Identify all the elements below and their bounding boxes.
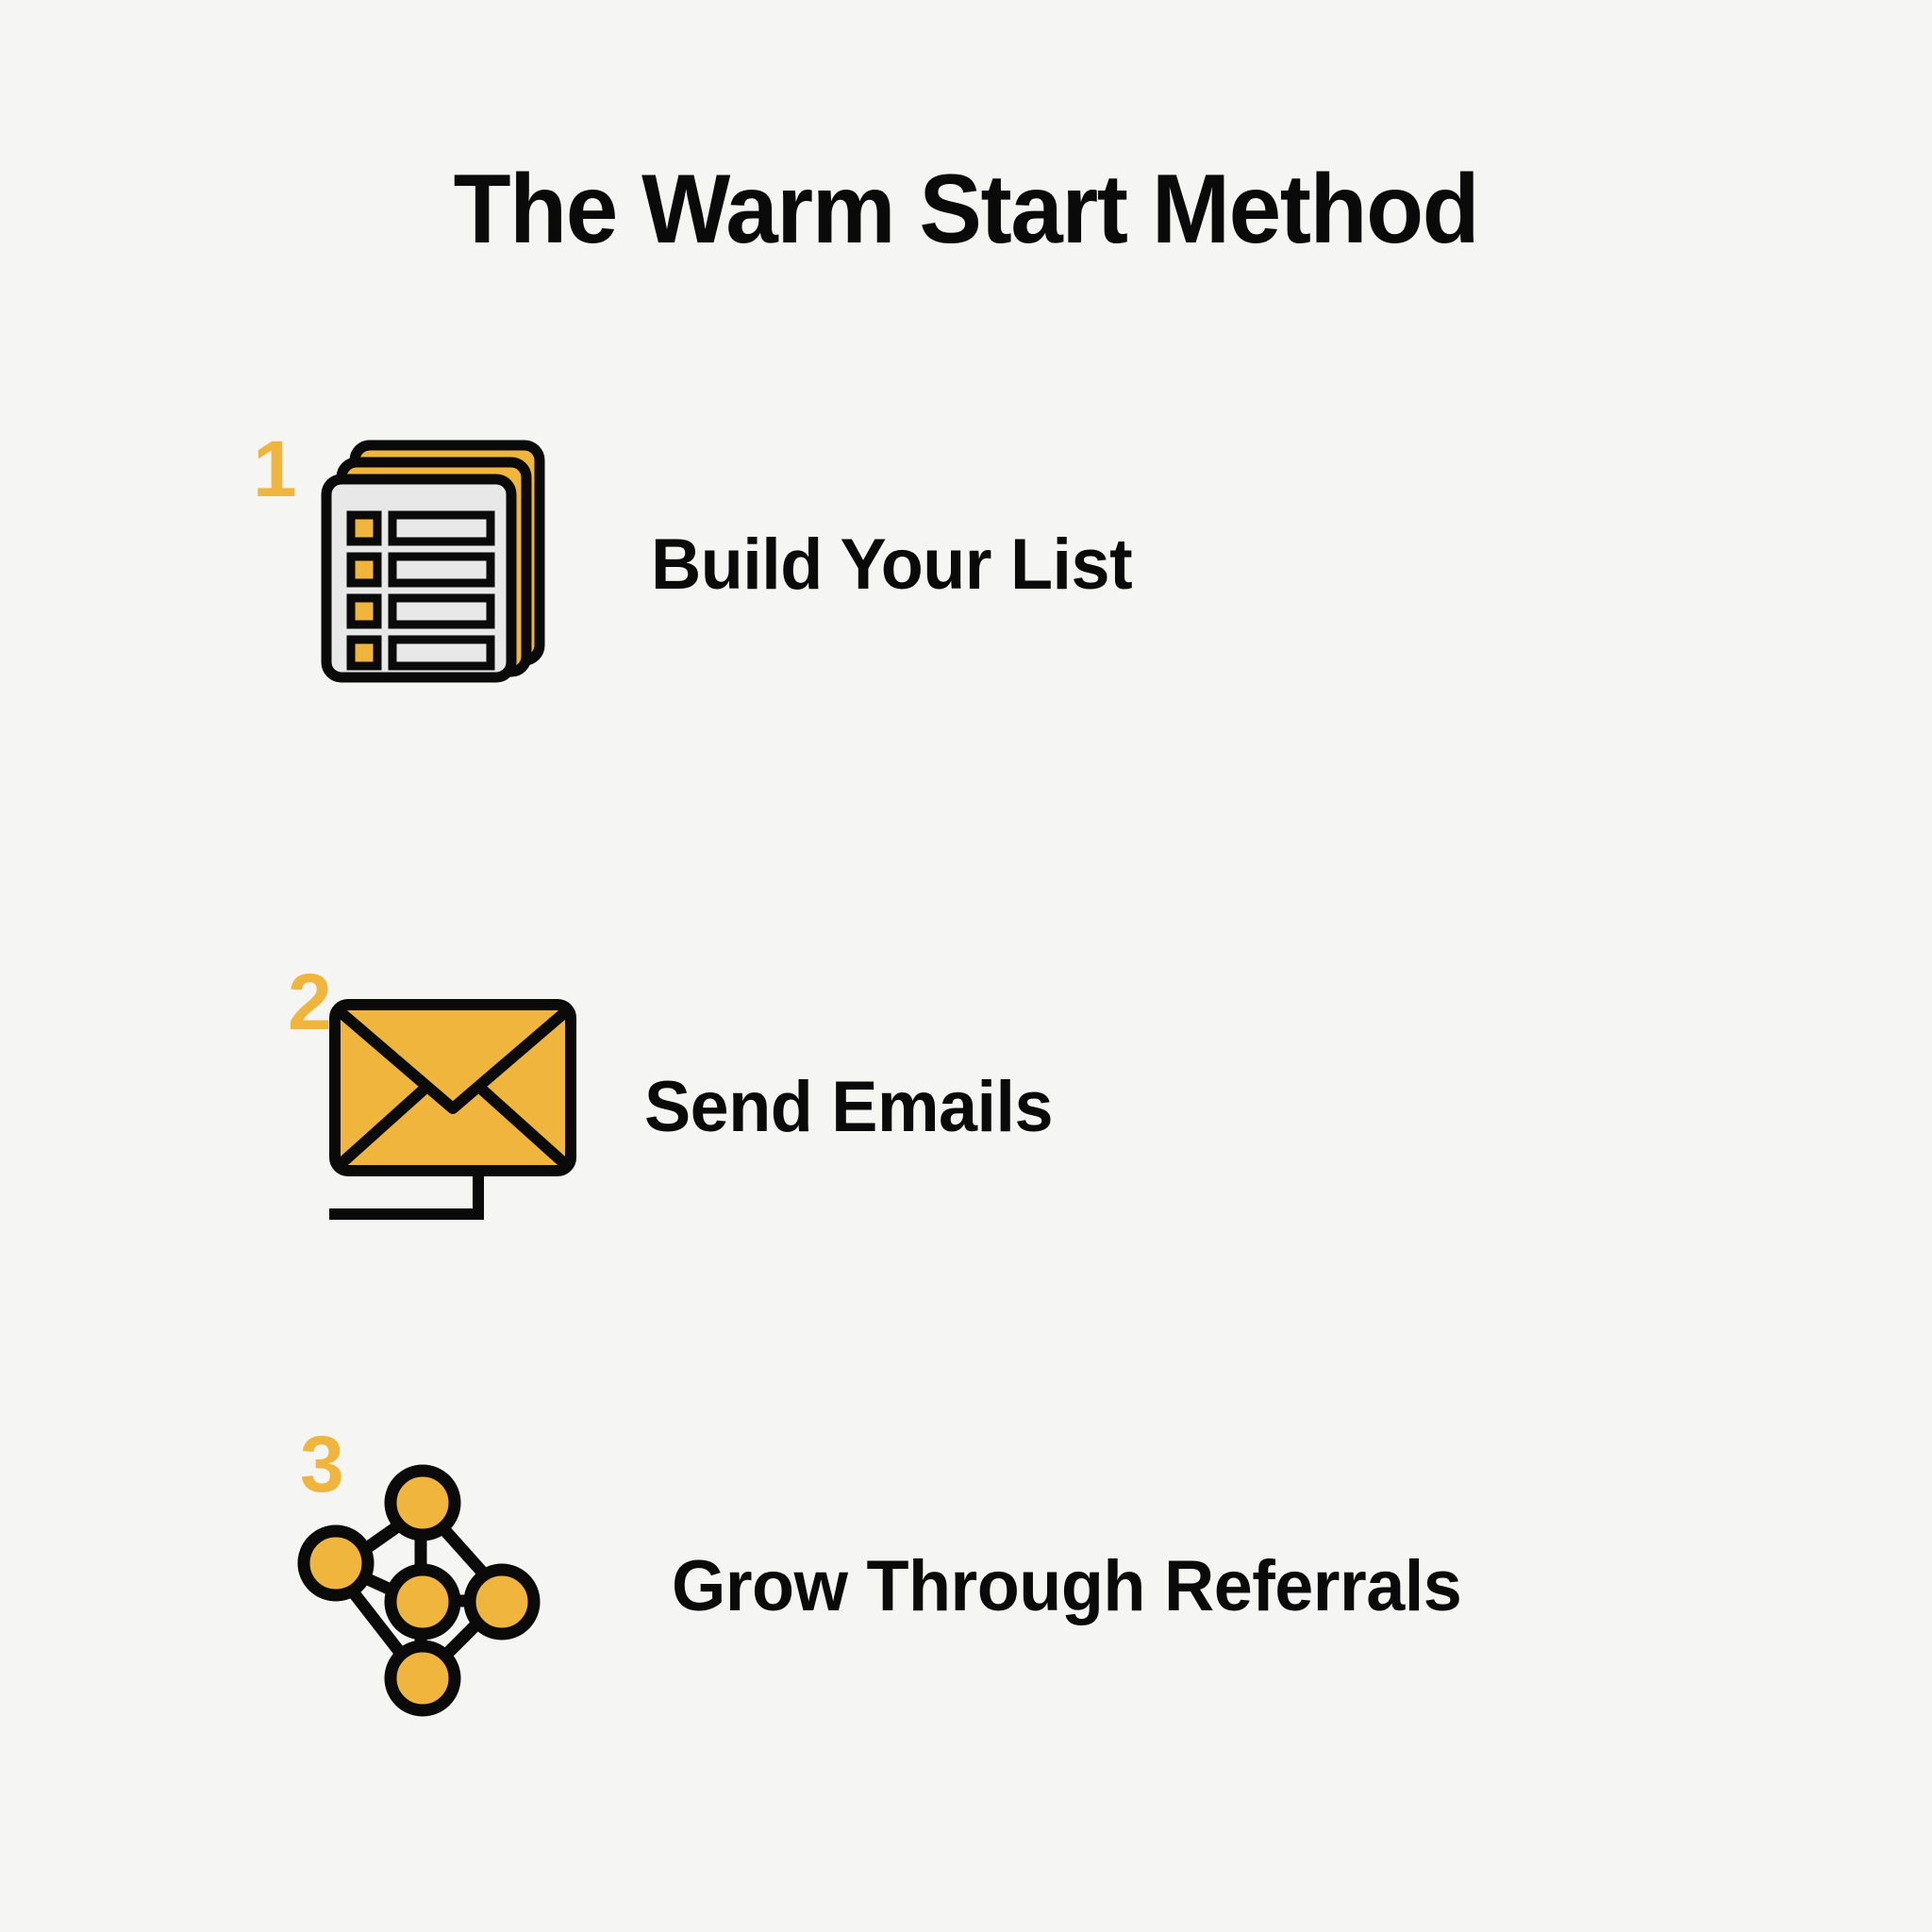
step-item: 1 [0, 406, 1932, 811]
step-item: 3 [0, 1391, 1932, 1797]
step-number-1: 1 [253, 429, 297, 508]
network-nodes-icon [300, 1448, 555, 1731]
page-title: The Warm Start Method [454, 158, 1479, 261]
step-item: 2 Send Emails [0, 920, 1932, 1325]
infographic-canvas: The Warm Start Method 1 [0, 0, 1932, 1932]
document-stack-checklist-icon [311, 425, 566, 708]
envelope-icon [325, 967, 580, 1250]
steps-list: 1 [0, 406, 1932, 1877]
step-label-3: Grow Through Referrals [672, 1545, 1461, 1627]
step-label-1: Build Your List [651, 524, 1132, 606]
step-label-2: Send Emails [644, 1066, 1053, 1148]
title-block: The Warm Start Method [0, 158, 1932, 261]
